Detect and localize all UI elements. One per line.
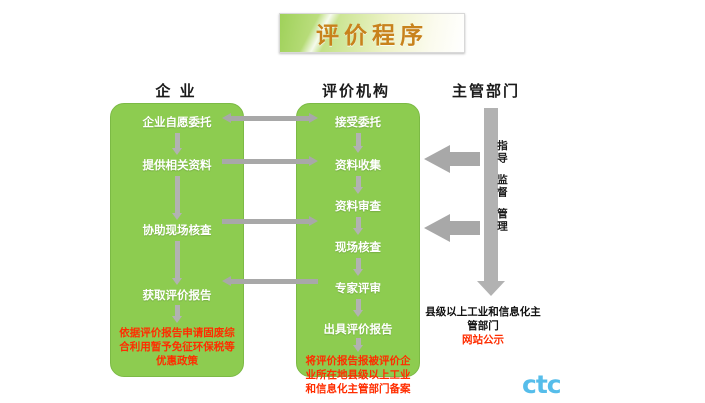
agency-step-3: 资料审查 bbox=[297, 198, 419, 214]
enterprise-arrow-4-note bbox=[172, 305, 183, 323]
governance-label-group: 指导 监督 管理 bbox=[490, 140, 514, 233]
enterprise-arrow-3-4 bbox=[172, 241, 183, 285]
column-header-agency: 评价机构 bbox=[294, 80, 418, 101]
agency-arrow-2-3 bbox=[353, 176, 364, 194]
governance-arrow-to-agency-1 bbox=[424, 145, 480, 173]
column-header-enterprise: 企 业 bbox=[110, 80, 242, 101]
page-title: 评价程序 bbox=[316, 16, 428, 50]
governance-label-guidance: 指导 bbox=[496, 140, 508, 165]
panel-enterprise: 企业自愿委托 提供相关资料 协助现场核查 获取评价报告 依据评价报告申请固废综合… bbox=[110, 103, 244, 377]
agency-arrow-6-note bbox=[353, 338, 364, 352]
governance-label-supervision: 监督 bbox=[496, 174, 508, 199]
agency-arrow-4-5 bbox=[353, 258, 364, 276]
enterprise-arrow-1-2 bbox=[172, 133, 183, 155]
agency-arrow-1-2 bbox=[353, 133, 364, 153]
government-note-publication: 网站公示 bbox=[424, 333, 542, 347]
governance-label-management: 管理 bbox=[496, 208, 508, 233]
connector-report-delivery bbox=[222, 276, 318, 287]
agency-arrow-3-4 bbox=[353, 217, 364, 235]
connector-materials bbox=[222, 156, 318, 167]
connector-commission bbox=[222, 113, 318, 124]
agency-note: 将评价报告报被评价企业所在地县级以上工业和信息化主管部门备案 bbox=[301, 354, 415, 396]
government-note-authority: 县级以上工业和信息化主管部门 bbox=[425, 306, 541, 332]
enterprise-arrow-2-3 bbox=[172, 176, 183, 220]
enterprise-step-4: 获取评价报告 bbox=[111, 287, 243, 303]
connector-site-check bbox=[222, 216, 318, 227]
enterprise-note: 依据评价报告申请固废综合利用暂予免征环保税等优惠政策 bbox=[115, 326, 239, 368]
agency-step-6: 出具评价报告 bbox=[297, 321, 419, 337]
diagram-canvas: 评价程序 企 业 评价机构 主管部门 企业自愿委托 提供相关资料 协助现场核查 … bbox=[0, 0, 705, 403]
title-banner: 评价程序 bbox=[279, 13, 465, 53]
government-note: 县级以上工业和信息化主管部门 网站公示 bbox=[424, 305, 542, 347]
agency-step-4: 现场核查 bbox=[297, 239, 419, 255]
governance-arrow-head bbox=[477, 281, 505, 296]
ctc-logo: ctc bbox=[522, 370, 561, 399]
column-header-government: 主管部门 bbox=[430, 80, 542, 101]
governance-arrow-to-agency-2 bbox=[424, 214, 480, 242]
agency-arrow-5-6 bbox=[353, 299, 364, 317]
panel-agency: 接受委托 资料收集 资料审查 现场核查 专家评审 出具评价报告 将评价报告报被评… bbox=[296, 103, 420, 377]
